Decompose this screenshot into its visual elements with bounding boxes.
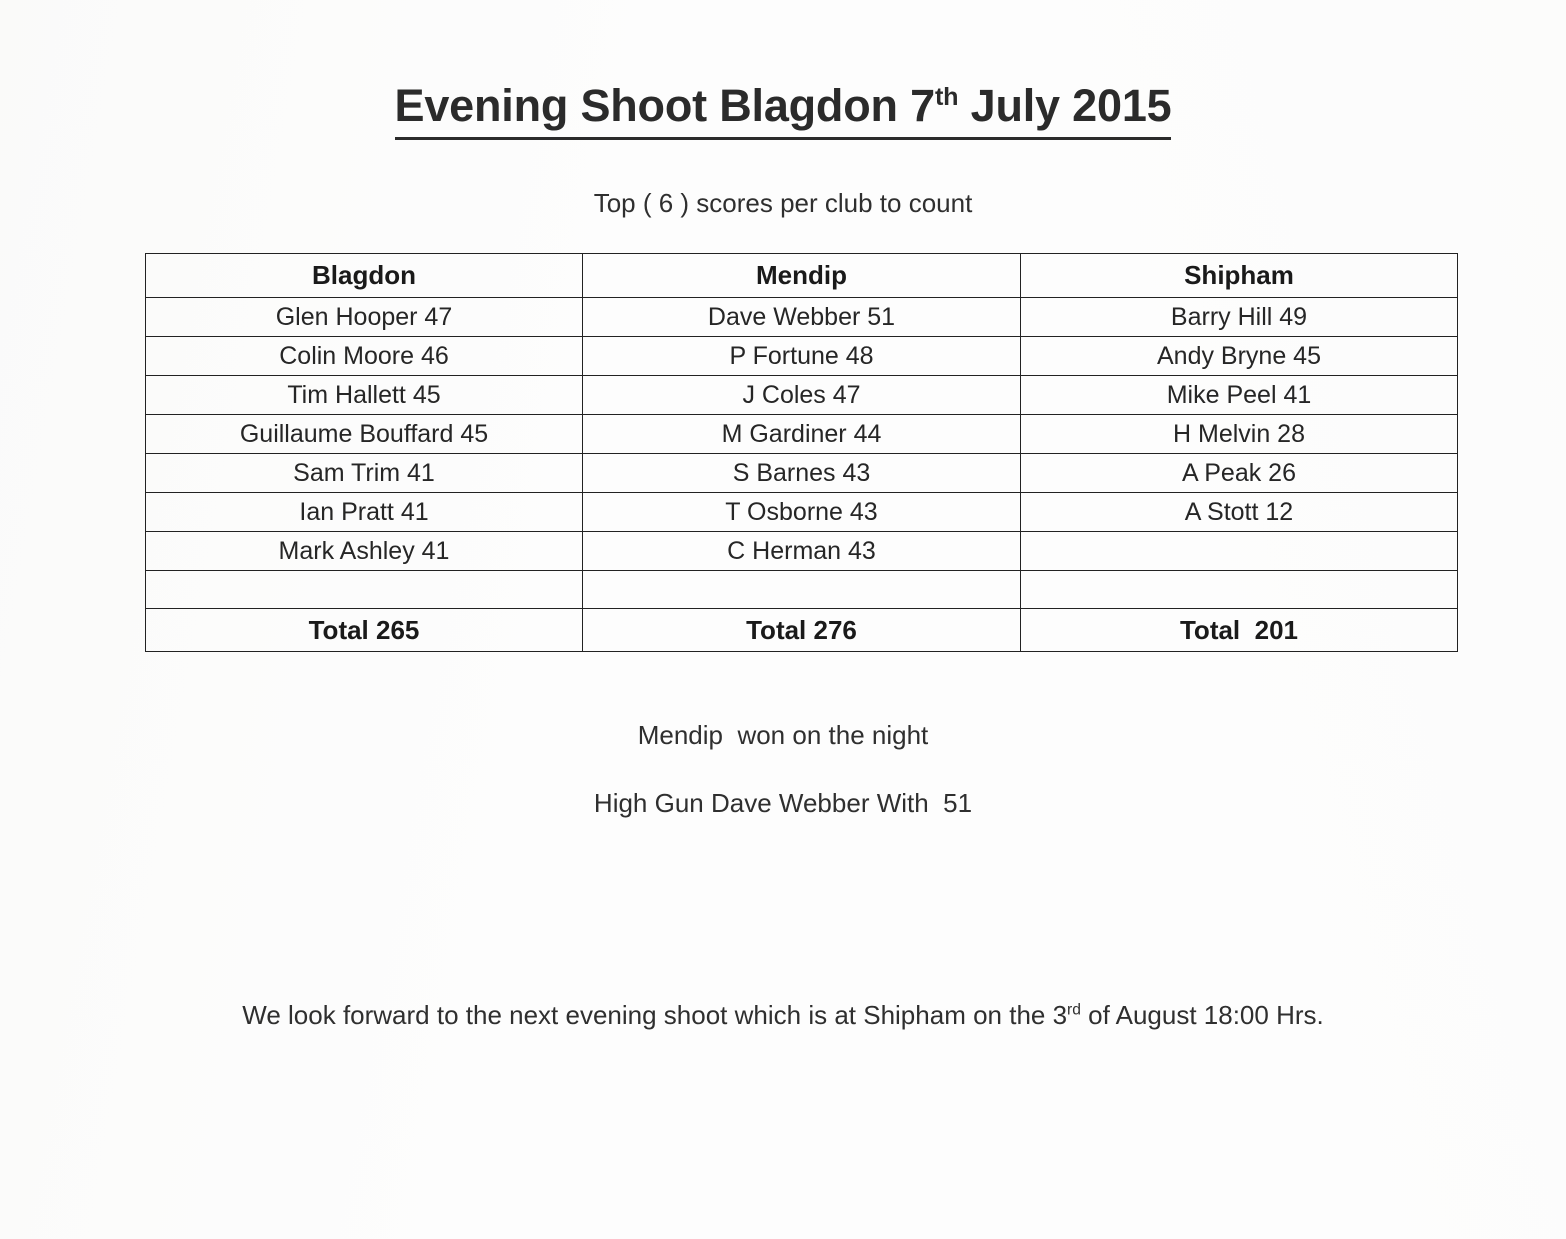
total-shipham: Total 201 bbox=[1021, 609, 1458, 652]
page-title-tail: July 2015 bbox=[958, 80, 1171, 131]
table-total-row: Total 265 Total 276 Total 201 bbox=[146, 609, 1458, 652]
table-row: Ian Pratt 41 T Osborne 43 A Stott 12 bbox=[146, 493, 1458, 532]
page-title-main: Evening Shoot Blagdon 7 bbox=[395, 80, 935, 131]
cell-mendip-7: C Herman 43 bbox=[583, 532, 1021, 571]
cell-shipham-blank bbox=[1021, 571, 1458, 609]
table-row: Mark Ashley 41 C Herman 43 bbox=[146, 532, 1458, 571]
scores-table: Blagdon Mendip Shipham Glen Hooper 47 Da… bbox=[145, 253, 1458, 652]
cell-mendip-2: P Fortune 48 bbox=[583, 337, 1021, 376]
cell-shipham-5: A Peak 26 bbox=[1021, 454, 1458, 493]
winner-note: Mendip won on the night bbox=[0, 720, 1566, 751]
cell-mendip-5: S Barnes 43 bbox=[583, 454, 1021, 493]
cell-shipham-7 bbox=[1021, 532, 1458, 571]
cell-blagdon-2: Colin Moore 46 bbox=[146, 337, 583, 376]
cell-mendip-3: J Coles 47 bbox=[583, 376, 1021, 415]
cell-mendip-blank bbox=[583, 571, 1021, 609]
cell-mendip-1: Dave Webber 51 bbox=[583, 298, 1021, 337]
table-row: Sam Trim 41 S Barnes 43 A Peak 26 bbox=[146, 454, 1458, 493]
high-gun-note: High Gun Dave Webber With 51 bbox=[0, 788, 1566, 819]
cell-shipham-3: Mike Peel 41 bbox=[1021, 376, 1458, 415]
subtitle: Top ( 6 ) scores per club to count bbox=[0, 188, 1566, 219]
column-header-blagdon: Blagdon bbox=[146, 254, 583, 298]
cell-blagdon-6: Ian Pratt 41 bbox=[146, 493, 583, 532]
page-title-underlined: Evening Shoot Blagdon 7th July 2015 bbox=[395, 80, 1172, 140]
cell-blagdon-5: Sam Trim 41 bbox=[146, 454, 583, 493]
table-blank-row bbox=[146, 571, 1458, 609]
table-row: Tim Hallett 45 J Coles 47 Mike Peel 41 bbox=[146, 376, 1458, 415]
table-row: Glen Hooper 47 Dave Webber 51 Barry Hill… bbox=[146, 298, 1458, 337]
cell-blagdon-3: Tim Hallett 45 bbox=[146, 376, 583, 415]
page-title: Evening Shoot Blagdon 7th July 2015 bbox=[0, 80, 1566, 140]
next-shoot-tail: of August 18:00 Hrs. bbox=[1081, 1000, 1324, 1030]
table-header-row: Blagdon Mendip Shipham bbox=[146, 254, 1458, 298]
cell-mendip-4: M Gardiner 44 bbox=[583, 415, 1021, 454]
next-shoot-note: We look forward to the next evening shoo… bbox=[0, 1000, 1566, 1031]
cell-mendip-6: T Osborne 43 bbox=[583, 493, 1021, 532]
column-header-shipham: Shipham bbox=[1021, 254, 1458, 298]
next-shoot-lead: We look forward to the next evening shoo… bbox=[242, 1000, 1067, 1030]
cell-shipham-2: Andy Bryne 45 bbox=[1021, 337, 1458, 376]
cell-shipham-6: A Stott 12 bbox=[1021, 493, 1458, 532]
table-row: Guillaume Bouffard 45 M Gardiner 44 H Me… bbox=[146, 415, 1458, 454]
document-content: Evening Shoot Blagdon 7th July 2015 Top … bbox=[0, 0, 1566, 1239]
cell-blagdon-1: Glen Hooper 47 bbox=[146, 298, 583, 337]
total-mendip: Total 276 bbox=[583, 609, 1021, 652]
cell-shipham-1: Barry Hill 49 bbox=[1021, 298, 1458, 337]
next-shoot-ordinal-suffix: rd bbox=[1067, 1001, 1081, 1018]
cell-blagdon-7: Mark Ashley 41 bbox=[146, 532, 583, 571]
cell-shipham-4: H Melvin 28 bbox=[1021, 415, 1458, 454]
cell-blagdon-4: Guillaume Bouffard 45 bbox=[146, 415, 583, 454]
total-blagdon: Total 265 bbox=[146, 609, 583, 652]
cell-blagdon-blank bbox=[146, 571, 583, 609]
column-header-mendip: Mendip bbox=[583, 254, 1021, 298]
table-row: Colin Moore 46 P Fortune 48 Andy Bryne 4… bbox=[146, 337, 1458, 376]
page-title-ordinal-suffix: th bbox=[935, 83, 958, 111]
